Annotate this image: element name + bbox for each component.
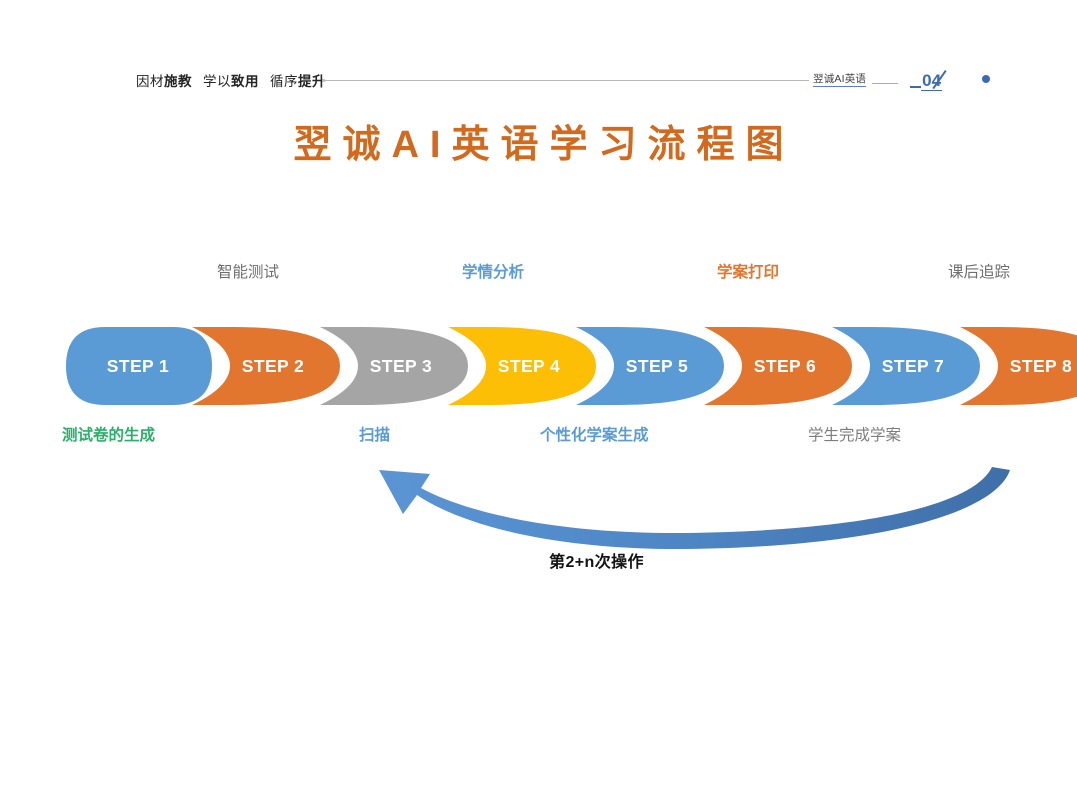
header-short-rule — [872, 83, 898, 84]
flow-top-label-1: 智能测试 — [217, 262, 279, 284]
flow-step-chevrons: STEP 1 STEP 2 STEP 3 STEP 4 STEP 5 — [62, 325, 1050, 407]
slogan-part-6: 提升 — [298, 74, 326, 89]
slogan-part-1: 因材 — [136, 74, 164, 89]
flow-step-5-label: STEP 5 — [612, 356, 688, 377]
flow-bottom-label-2: 扫描 — [359, 425, 390, 447]
page-number-dash — [910, 86, 921, 88]
flow-top-label-3: 学案打印 — [717, 262, 779, 284]
flow-bottom-label-4: 学生完成学案 — [808, 425, 901, 447]
flow-step-2-label: STEP 2 — [228, 356, 304, 377]
flow-bottom-label-3: 个性化学案生成 — [540, 425, 649, 447]
header-brand-block: 翌诚AI英语 04 — [813, 68, 990, 92]
page-title: 翌诚AI英语学习流程图 — [0, 113, 1077, 168]
flow-bottom-label-1: 测试卷的生成 — [62, 425, 155, 447]
slogan-part-3: 学以 — [203, 74, 231, 89]
bullet-dot-icon — [982, 75, 990, 83]
flow-step-4-label: STEP 4 — [484, 356, 560, 377]
flow-step-8[interactable]: STEP 8 — [958, 325, 1077, 407]
header-brand-label: 翌诚AI英语 — [813, 73, 866, 87]
process-flow-diagram: 智能测试 学情分析 学案打印 课后追踪 STEP 1 STEP 2 STEP 3 — [62, 262, 1050, 472]
header-divider-line — [322, 80, 809, 81]
slash-icon — [943, 70, 960, 91]
flow-step-1-label: STEP 1 — [107, 356, 169, 377]
flow-step-3-label: STEP 3 — [356, 356, 432, 377]
flow-step-7-label: STEP 7 — [868, 356, 944, 377]
loopback-arrow-caption: 第2+n次操作 — [0, 548, 1077, 572]
header-slogan: 因材施教 学以致用 循序提升 — [136, 68, 337, 92]
flow-step-6-label: STEP 6 — [740, 356, 816, 377]
loopback-arrow-caption-text: 第2+n次操作 — [549, 554, 644, 571]
flow-step-8-label: STEP 8 — [996, 356, 1072, 377]
flow-top-label-4: 课后追踪 — [948, 262, 1010, 284]
slogan-part-2: 施教 — [164, 74, 192, 89]
flow-top-labels: 智能测试 学情分析 学案打印 课后追踪 — [62, 262, 1050, 288]
page-number-group: 04 — [910, 70, 960, 91]
flow-bottom-labels: 测试卷的生成 扫描 个性化学案生成 学生完成学案 — [62, 425, 1050, 451]
slogan-part-4: 致用 — [231, 74, 259, 89]
slogan-part-5: 循序 — [270, 74, 298, 89]
loopback-arrow — [355, 462, 1035, 557]
flow-top-label-2: 学情分析 — [462, 262, 524, 284]
